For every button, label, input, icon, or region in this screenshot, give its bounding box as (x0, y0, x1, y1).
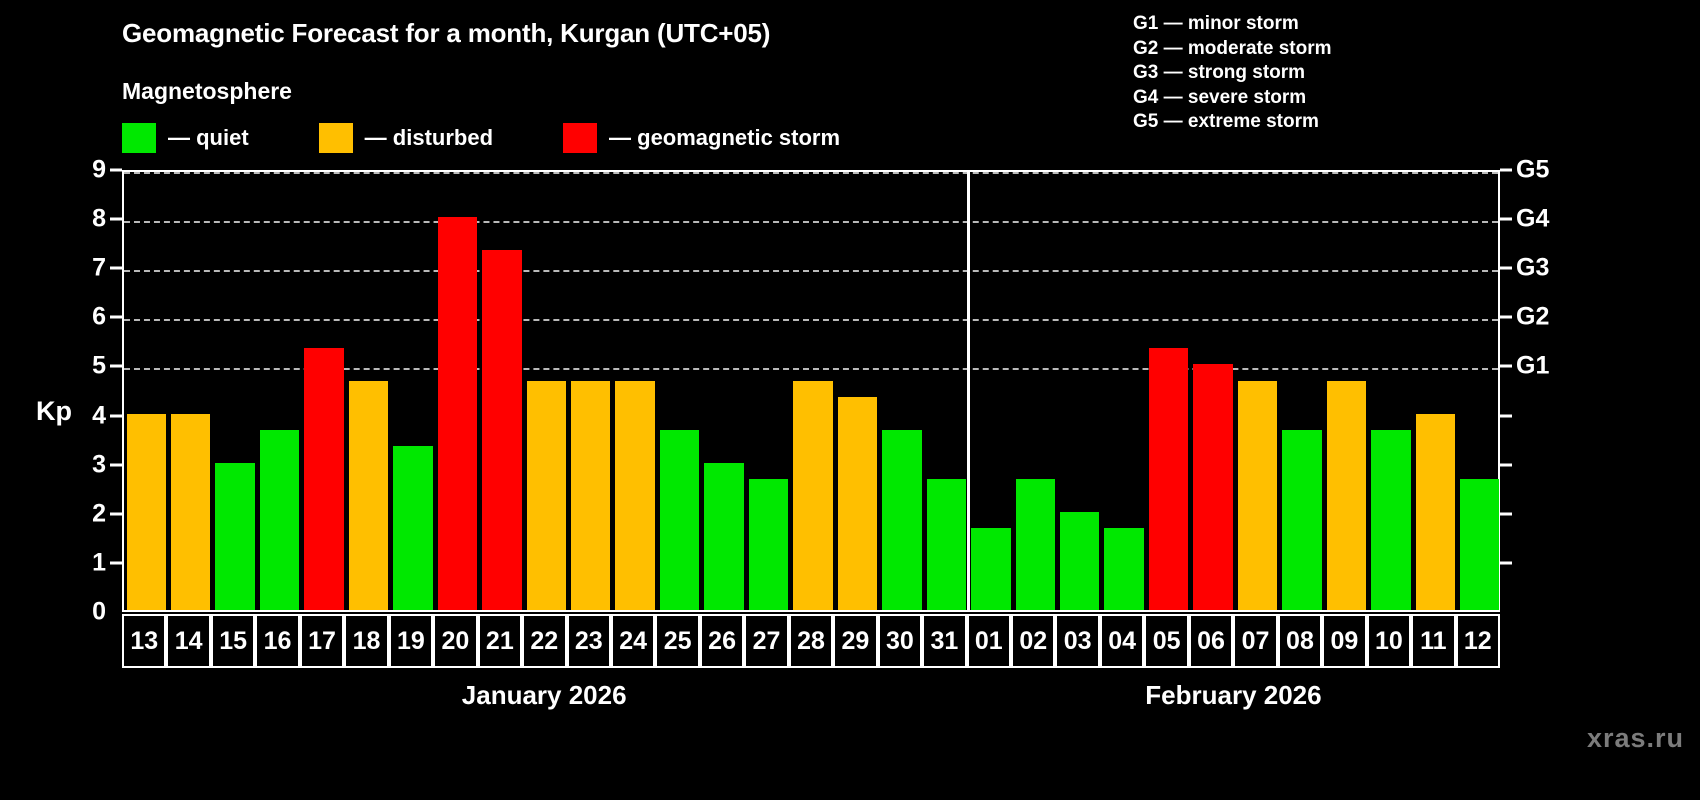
bar-day-02[interactable] (1016, 479, 1055, 610)
y-tick-label-7: 7 (66, 254, 106, 283)
legend-label-storm: — geomagnetic storm (609, 125, 840, 151)
y-tick-label-3: 3 (66, 450, 106, 479)
bar-day-24[interactable] (615, 381, 654, 610)
y-tick-mark-5 (110, 365, 122, 368)
month-divider (967, 172, 970, 610)
bar-day-06[interactable] (1193, 364, 1232, 610)
y-tick-label-1: 1 (66, 548, 106, 577)
day-label-23[interactable]: 23 (567, 614, 611, 668)
day-label-16[interactable]: 16 (255, 614, 299, 668)
y-tick-mark-3 (110, 463, 122, 466)
day-label-22[interactable]: 22 (522, 614, 566, 668)
legend-item-disturbed: — disturbed (319, 123, 493, 153)
watermark: xras.ru (1587, 723, 1684, 754)
g-tick-label-G5: G5 (1516, 156, 1549, 185)
day-label-30[interactable]: 30 (878, 614, 922, 668)
bar-day-30[interactable] (882, 430, 921, 610)
bar-day-25[interactable] (660, 430, 699, 610)
day-label-18[interactable]: 18 (344, 614, 388, 668)
day-label-11[interactable]: 11 (1411, 614, 1455, 668)
bar-day-21[interactable] (482, 250, 521, 610)
bar-day-07[interactable] (1238, 381, 1277, 610)
bar-day-14[interactable] (171, 414, 210, 610)
bar-day-27[interactable] (749, 479, 788, 610)
day-label-02[interactable]: 02 (1011, 614, 1055, 668)
page-title: Geomagnetic Forecast for a month, Kurgan… (122, 18, 770, 49)
g-tick-mark-minor-2 (1500, 512, 1512, 515)
y-tick-mark-6 (110, 316, 122, 319)
day-label-28[interactable]: 28 (789, 614, 833, 668)
bar-day-31[interactable] (927, 479, 966, 610)
g-scale-key-row-3: G3 — strong storm (1133, 61, 1332, 86)
y-tick-label-4: 4 (66, 401, 106, 430)
y-tick-label-6: 6 (66, 303, 106, 332)
day-label-13[interactable]: 13 (122, 614, 166, 668)
g-tick-label-G3: G3 (1516, 254, 1549, 283)
day-label-03[interactable]: 03 (1055, 614, 1099, 668)
bar-day-12[interactable] (1460, 479, 1499, 610)
y-tick-label-0: 0 (66, 598, 106, 627)
bar-day-10[interactable] (1371, 430, 1410, 610)
bar-day-08[interactable] (1282, 430, 1321, 610)
legend-swatch-storm-icon (563, 123, 597, 153)
y-tick-mark-9 (110, 169, 122, 172)
day-label-05[interactable]: 05 (1144, 614, 1188, 668)
bar-day-22[interactable] (527, 381, 566, 610)
bar-day-26[interactable] (704, 463, 743, 610)
g-scale-key-row-1: G1 — minor storm (1133, 12, 1332, 37)
bar-day-20[interactable] (438, 217, 477, 610)
bar-day-01[interactable] (971, 528, 1010, 610)
legend-label-quiet: — quiet (168, 125, 249, 151)
bar-day-28[interactable] (793, 381, 832, 610)
bar-day-17[interactable] (304, 348, 343, 610)
plot-area (122, 170, 1500, 612)
bars-layer (124, 172, 1498, 610)
day-label-15[interactable]: 15 (211, 614, 255, 668)
bar-day-16[interactable] (260, 430, 299, 610)
g-tick-label-G2: G2 (1516, 303, 1549, 332)
day-label-27[interactable]: 27 (744, 614, 788, 668)
g-scale-key-row-2: G2 — moderate storm (1133, 37, 1332, 62)
bar-day-09[interactable] (1327, 381, 1366, 610)
g-scale-key: G1 — minor stormG2 — moderate stormG3 — … (1133, 12, 1332, 135)
legend-swatch-disturbed-icon (319, 123, 353, 153)
day-label-01[interactable]: 01 (967, 614, 1011, 668)
g-scale-key-row-4: G4 — severe storm (1133, 86, 1332, 111)
legend-swatch-quiet-icon (122, 123, 156, 153)
month-caption-1: February 2026 (1145, 680, 1321, 711)
bar-day-05[interactable] (1149, 348, 1188, 610)
y-tick-mark-4 (110, 414, 122, 417)
g-tick-mark-G1 (1500, 365, 1512, 368)
g-tick-mark-G3 (1500, 267, 1512, 270)
y-tick-mark-7 (110, 267, 122, 270)
day-label-25[interactable]: 25 (655, 614, 699, 668)
day-label-29[interactable]: 29 (833, 614, 877, 668)
g-tick-mark-minor-1 (1500, 561, 1512, 564)
day-label-19[interactable]: 19 (389, 614, 433, 668)
y-tick-label-9: 9 (66, 156, 106, 185)
legend-label-disturbed: — disturbed (365, 125, 493, 151)
x-axis-day-labels: 1314151617181920212223242526272829303101… (122, 614, 1500, 668)
day-label-21[interactable]: 21 (478, 614, 522, 668)
day-label-17[interactable]: 17 (300, 614, 344, 668)
day-label-06[interactable]: 06 (1189, 614, 1233, 668)
bar-day-11[interactable] (1416, 414, 1455, 610)
day-label-04[interactable]: 04 (1100, 614, 1144, 668)
day-label-07[interactable]: 07 (1233, 614, 1277, 668)
bar-day-04[interactable] (1104, 528, 1143, 610)
day-label-08[interactable]: 08 (1278, 614, 1322, 668)
g-tick-mark-G2 (1500, 316, 1512, 319)
g-tick-label-G4: G4 (1516, 205, 1549, 234)
day-label-26[interactable]: 26 (700, 614, 744, 668)
legend-item-quiet: — quiet (122, 123, 249, 153)
g-tick-mark-G5 (1500, 169, 1512, 172)
legend: — quiet — disturbed — geomagnetic storm (122, 122, 840, 154)
magnetosphere-heading: Magnetosphere (122, 78, 292, 105)
plot-inner (124, 172, 1498, 610)
bar-day-19[interactable] (393, 446, 432, 610)
day-label-20[interactable]: 20 (433, 614, 477, 668)
g-tick-mark-minor-4 (1500, 414, 1512, 417)
y-tick-mark-8 (110, 218, 122, 221)
day-label-10[interactable]: 10 (1367, 614, 1411, 668)
bar-day-13[interactable] (127, 414, 166, 610)
month-caption-0: January 2026 (462, 680, 627, 711)
bar-day-23[interactable] (571, 381, 610, 610)
bar-day-15[interactable] (215, 463, 254, 610)
legend-item-storm: — geomagnetic storm (563, 123, 840, 153)
bar-day-03[interactable] (1060, 512, 1099, 610)
day-label-09[interactable]: 09 (1322, 614, 1366, 668)
g-tick-mark-minor-3 (1500, 463, 1512, 466)
y-tick-label-8: 8 (66, 205, 106, 234)
day-label-31[interactable]: 31 (922, 614, 966, 668)
day-label-14[interactable]: 14 (166, 614, 210, 668)
g-tick-mark-G4 (1500, 218, 1512, 221)
y-tick-label-2: 2 (66, 499, 106, 528)
day-label-24[interactable]: 24 (611, 614, 655, 668)
g-scale-key-row-5: G5 — extreme storm (1133, 110, 1332, 135)
y-tick-label-5: 5 (66, 352, 106, 381)
g-tick-label-G1: G1 (1516, 352, 1549, 381)
y-tick-mark-2 (110, 512, 122, 515)
bar-day-29[interactable] (838, 397, 877, 610)
bar-day-18[interactable] (349, 381, 388, 610)
y-tick-mark-1 (110, 561, 122, 564)
day-label-12[interactable]: 12 (1456, 614, 1500, 668)
